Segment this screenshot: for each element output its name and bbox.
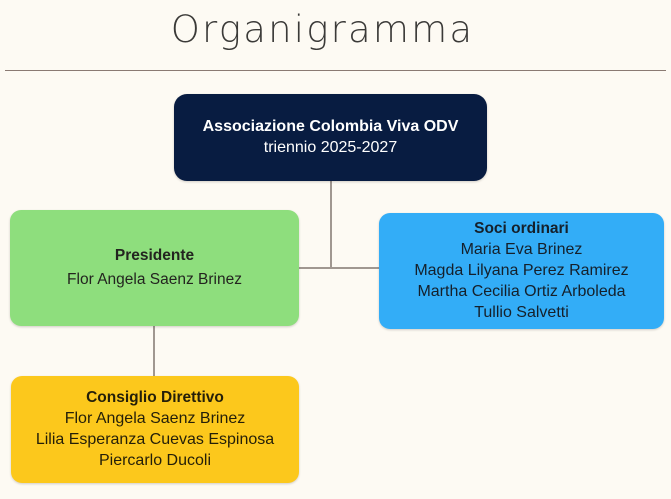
node-consiglio-direttivo-title: Consiglio Direttivo (86, 388, 224, 408)
connector-presidente-to-consiglio (153, 325, 155, 377)
node-presidente-title: Presidente (115, 246, 194, 266)
node-soci-ordinari-title: Soci ordinari (474, 219, 569, 239)
node-consiglio-direttivo[interactable]: Consiglio Direttivo Flor Angela Saenz Br… (11, 376, 299, 483)
node-associazione-title: Associazione Colombia Viva ODV (203, 116, 459, 137)
node-consiglio-direttivo-line-3: Piercarlo Ducoli (99, 450, 211, 471)
node-consiglio-direttivo-line-2: Lilia Esperanza Cuevas Espinosa (36, 429, 274, 450)
node-consiglio-direttivo-line-1: Flor Angela Saenz Brinez (65, 408, 246, 429)
title-divider (5, 70, 666, 71)
node-associazione[interactable]: Associazione Colombia Viva ODV triennio … (174, 94, 487, 181)
connector-split-to-presidente (299, 267, 332, 269)
node-soci-ordinari-line-4: Tullio Salvetti (474, 302, 569, 323)
node-soci-ordinari-line-2: Magda Lilyana Perez Ramirez (414, 260, 628, 281)
node-presidente[interactable]: Presidente Flor Angela Saenz Brinez (10, 210, 299, 326)
connector-split-to-soci (330, 267, 380, 269)
node-soci-ordinari[interactable]: Soci ordinari Maria Eva Brinez Magda Lil… (379, 213, 664, 329)
node-soci-ordinari-line-1: Maria Eva Brinez (461, 239, 583, 260)
node-associazione-line-1: triennio 2025-2027 (264, 137, 397, 159)
node-soci-ordinari-line-3: Martha Cecilia Ortiz Arboleda (417, 281, 625, 302)
page-title: Organigramma (0, 4, 645, 56)
node-presidente-line-1: Flor Angela Saenz Brinez (67, 270, 242, 290)
connector-root-to-split (330, 180, 332, 269)
organigramma-page: Organigramma Associazione Colombia Viva … (0, 0, 671, 499)
